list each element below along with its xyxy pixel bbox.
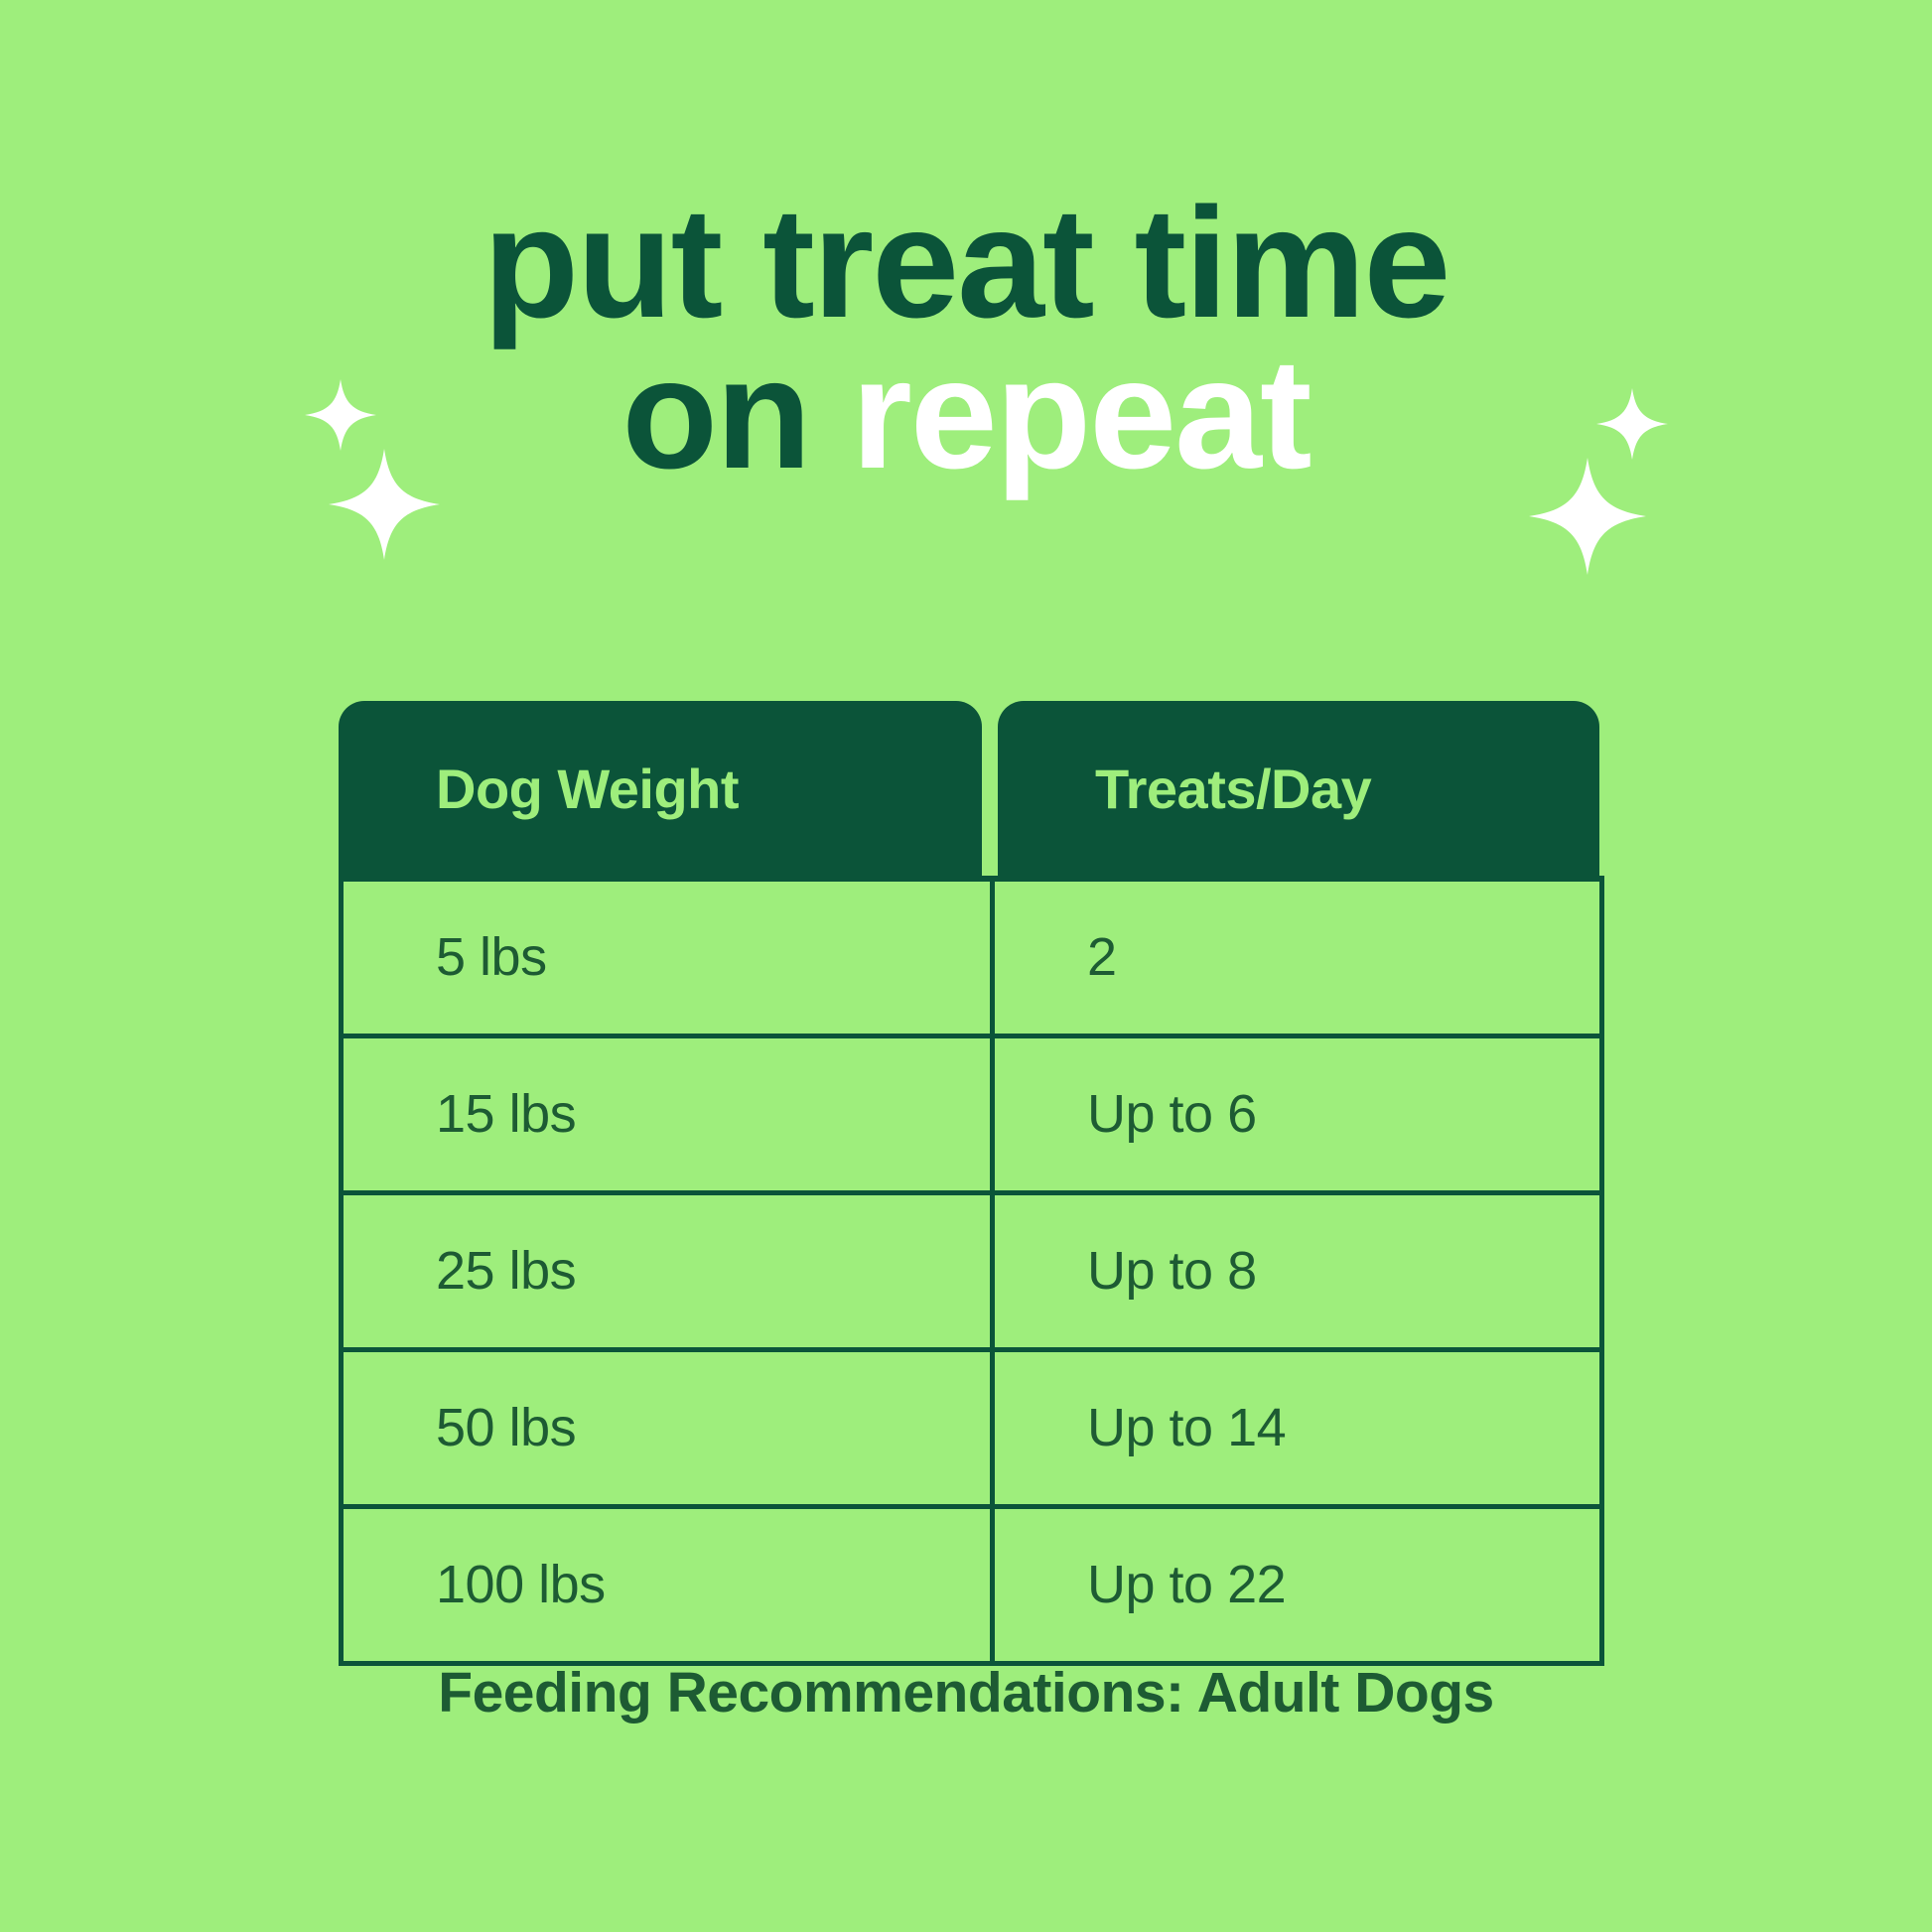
- table-row: 15 lbs Up to 6: [342, 1035, 1602, 1192]
- table-body: 5 lbs 2 15 lbs Up to 6 25 lbs Up to 8 50…: [339, 876, 1604, 1666]
- poster-canvas: put treat time on repeat Dog Weight Trea…: [0, 0, 1932, 1932]
- table-row: 100 lbs Up to 22: [342, 1506, 1602, 1663]
- table-row: 5 lbs 2: [342, 879, 1602, 1035]
- headline-line-2-prefix: on: [621, 327, 851, 501]
- sparkle-icon: [305, 379, 376, 451]
- sparkle-icon: [329, 449, 440, 560]
- sparkle-icon: [1529, 458, 1646, 575]
- table-header-dog-weight: Dog Weight: [339, 701, 982, 876]
- cell-dog-weight: 100 lbs: [342, 1506, 993, 1663]
- headline-line-1: put treat time: [0, 189, 1932, 340]
- sparkle-icon: [1596, 388, 1668, 460]
- cell-treats-day: Up to 22: [993, 1506, 1602, 1663]
- footer-caption: Feeding Recommendations: Adult Dogs: [0, 1660, 1932, 1725]
- cell-treats-day: Up to 8: [993, 1192, 1602, 1349]
- cell-dog-weight: 15 lbs: [342, 1035, 993, 1192]
- cell-dog-weight: 50 lbs: [342, 1349, 993, 1506]
- table-row: 50 lbs Up to 14: [342, 1349, 1602, 1506]
- table-header-label: Dog Weight: [436, 757, 739, 821]
- table-header-treats-day: Treats/Day: [998, 701, 1599, 876]
- table-row: 25 lbs Up to 8: [342, 1192, 1602, 1349]
- cell-dog-weight: 25 lbs: [342, 1192, 993, 1349]
- headline-emphasis-repeat: repeat: [851, 327, 1310, 501]
- table-header-label: Treats/Day: [1095, 757, 1371, 821]
- feeding-table: Dog Weight Treats/Day 5 lbs 2 15 lbs Up …: [339, 701, 1599, 1666]
- cell-treats-day: Up to 14: [993, 1349, 1602, 1506]
- cell-treats-day: Up to 6: [993, 1035, 1602, 1192]
- cell-dog-weight: 5 lbs: [342, 879, 993, 1035]
- table-header-row: Dog Weight Treats/Day: [339, 701, 1599, 876]
- cell-treats-day: 2: [993, 879, 1602, 1035]
